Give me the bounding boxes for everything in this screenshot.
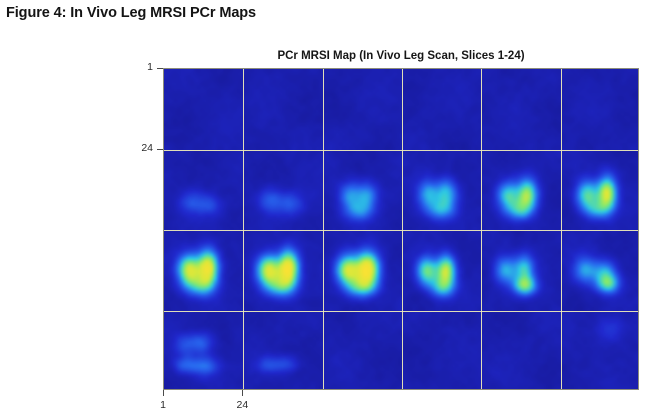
y-tick-label: 1: [119, 61, 153, 73]
chart-title: PCr MRSI Map (In Vivo Leg Scan, Slices 1…: [163, 50, 639, 62]
figure-panel: PCr MRSI Map (In Vivo Leg Scan, Slices 1…: [0, 0, 664, 415]
y-tick-label: 24: [119, 142, 153, 154]
x-axis-tick: [163, 390, 164, 396]
mrsi-montage-image: [164, 69, 639, 390]
y-axis-tick: [157, 68, 163, 69]
x-tick-label: 1: [143, 399, 183, 411]
x-tick-label: 24: [222, 399, 262, 411]
x-axis-tick: [242, 390, 243, 396]
y-axis-tick: [157, 149, 163, 150]
mrsi-montage-plot: [163, 68, 639, 390]
